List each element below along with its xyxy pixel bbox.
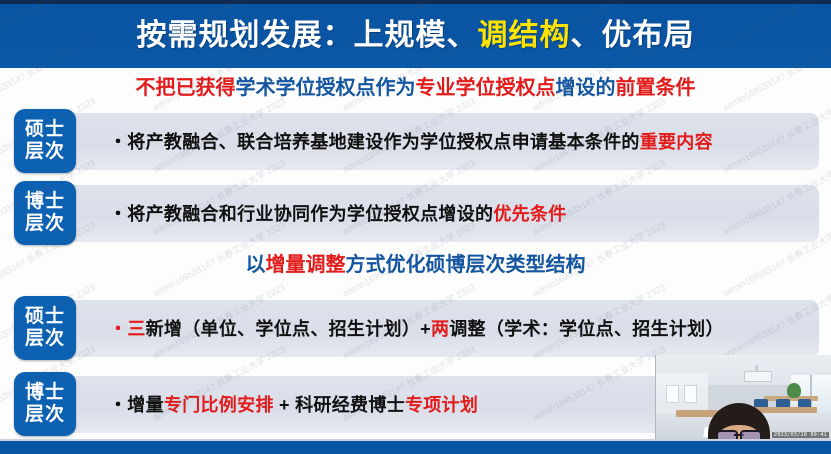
content-text-2: ・将产教融合和行业协同作为学位授权点增设的优先条件 (62, 205, 567, 223)
slide-banner: 按需规划发展：上规模、调结构、优布局 (0, 4, 831, 68)
heading2-seg3: 方式优化硕博层次类型结构 (346, 254, 586, 276)
presentation-slide: 按需规划发展：上规模、调结构、优布局 不把已获得学术学位授权点作为专业学位授权点… (0, 0, 831, 454)
badge-line2: 层次 (25, 141, 65, 163)
level-badge-master: 硕士 层次 (14, 296, 76, 360)
row2-seg1: ・将产教融合和行业协同作为学位授权点增设的 (109, 204, 493, 224)
cam-wall-frame-1 (666, 385, 679, 403)
bottom-blue-bar (0, 441, 831, 454)
banner-title-highlight: 调结构 (478, 19, 571, 52)
level-badge-doctor: 博士 层次 (14, 181, 76, 245)
content-panel-3: ・三新增（单位、学位点、招生计划）+两调整（学术：学位点、招生计划） (62, 300, 819, 357)
heading1-seg5: 前置条件 (616, 77, 696, 99)
section-heading-2: 以增量调整方式优化硕博层次类型结构 (0, 255, 831, 275)
glasses-lens-right (740, 430, 762, 439)
row1-seg1: ・将产教融合、联合培养基地建设作为学位授权点申请基本条件的 (109, 132, 640, 152)
content-row-2: 博士 层次 ・将产教融合和行业协同作为学位授权点增设的优先条件 (14, 181, 819, 245)
row4-seg4: 专项计划 (405, 395, 478, 415)
level-badge-doctor: 博士 层次 (14, 372, 76, 436)
heading1-seg3: 专业学位授权点 (416, 77, 556, 99)
banner-title-part1: 按需规划发展：上规模、 (137, 19, 478, 52)
cam-plant (787, 383, 801, 398)
banner-title-part2: 、优布局 (571, 19, 695, 52)
content-panel-2: ・将产教融合和行业协同作为学位授权点增设的优先条件 (62, 185, 819, 242)
row1-seg2: 重要内容 (640, 132, 713, 152)
badge-line1: 博士 (25, 382, 65, 404)
level-badge-master: 硕士 层次 (14, 109, 76, 173)
cam-projector (744, 371, 772, 382)
badge-line2: 层次 (25, 404, 65, 426)
row4-seg3: + 科研经费博士 (274, 395, 405, 415)
row3-seg5: 调整（学术：学位点、招生计划） (449, 319, 724, 339)
badge-line1: 博士 (25, 191, 65, 213)
badge-line2: 层次 (25, 213, 65, 235)
content-text-1: ・将产教融合、联合培养基地建设作为学位授权点申请基本条件的重要内容 (62, 133, 713, 151)
content-text-3: ・三新增（单位、学位点、招生计划）+两调整（学术：学位点、招生计划） (62, 320, 724, 338)
row3-seg3: 新增（单位、学位点、招生计划）+ (146, 319, 431, 339)
row3-seg2: 三 (127, 319, 145, 339)
row2-seg2: 优先条件 (493, 204, 566, 224)
heading1-seg2: 学术学位授权点作为 (236, 77, 416, 99)
content-row-1: 硕士 层次 ・将产教融合、联合培养基地建设作为学位授权点申请基本条件的重要内容 (14, 109, 819, 173)
cam-person-glasses (716, 430, 762, 439)
badge-line1: 硕士 (25, 306, 65, 328)
row3-seg4: 两 (431, 319, 449, 339)
badge-line2: 层次 (25, 328, 65, 350)
heading1-seg1: 不把已获得 (136, 77, 236, 99)
content-text-4: ・增量专门比例安排 + 科研经费博士专项计划 (62, 396, 478, 414)
section-heading-1: 不把已获得学术学位授权点作为专业学位授权点增设的前置条件 (0, 78, 831, 98)
page-title: 按需规划发展：上规模、调结构、优布局 (137, 21, 695, 51)
row4-seg2: 专门比例安排 (164, 395, 274, 415)
row4-seg1: ・增量 (109, 395, 164, 415)
heading1-seg4: 增设的 (556, 77, 616, 99)
content-row-3: 硕士 层次 ・三新增（单位、学位点、招生计划）+两调整（学术：学位点、招生计划） (14, 296, 819, 360)
row3-seg1: ・ (109, 319, 127, 339)
webcam-timestamp: 2023/03/10 09:41 (772, 432, 829, 438)
badge-line1: 硕士 (25, 119, 65, 141)
heading2-seg1: 以 (246, 254, 266, 276)
cam-wall-frame-2 (684, 385, 697, 403)
heading2-seg2: 增量调整 (266, 254, 346, 276)
content-panel-1: ・将产教融合、联合培养基地建设作为学位授权点申请基本条件的重要内容 (62, 113, 819, 170)
webcam-overlay[interactable]: 2023/03/10 09:41 (655, 355, 831, 439)
